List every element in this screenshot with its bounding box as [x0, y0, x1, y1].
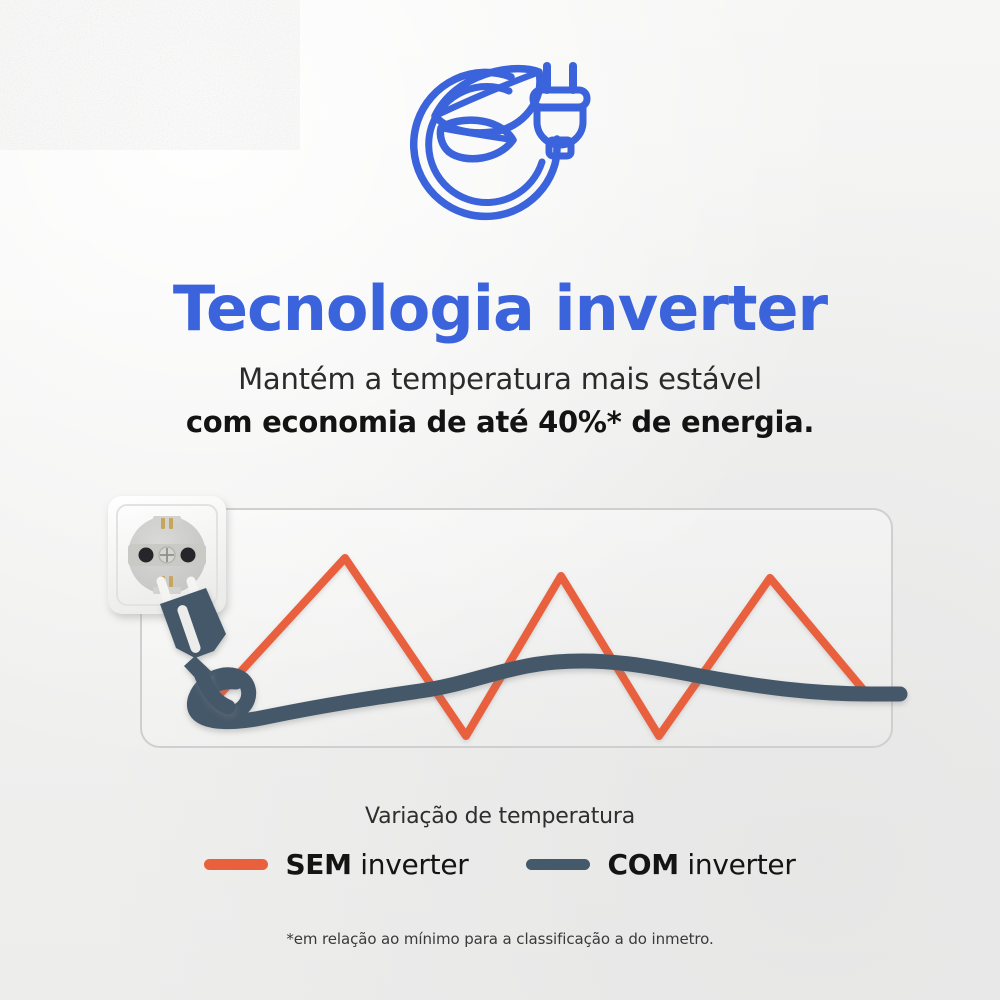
outlet-brass-slot-bottom-b	[169, 576, 173, 587]
legend-label-com-rest: inverter	[679, 848, 796, 881]
outlet-brass-slot-top-a	[161, 518, 165, 529]
legend-label-sem-rest: inverter	[352, 848, 469, 881]
legend-title: Variação de temperatura	[0, 804, 1000, 829]
chart-legend: SEM inverter COM inverter	[0, 848, 1000, 881]
legend-swatch-com-inverter	[526, 859, 590, 870]
legend-label-sem-inverter: SEM inverter	[285, 848, 468, 881]
plug-cable	[202, 676, 228, 707]
subtitle-line-1: Mantém a temperatura mais estável	[0, 340, 1000, 396]
wall-outlet-illustration	[98, 488, 338, 718]
legend-item-sem-inverter[interactable]: SEM inverter	[204, 848, 468, 881]
legend-item-com-inverter[interactable]: COM inverter	[526, 848, 795, 881]
outlet-pin-hole-left	[139, 548, 154, 563]
headline-block: Tecnologia inverter Mantém a temperatura…	[0, 278, 1000, 439]
subtitle-line-2: com economia de até 40%* de energia.	[0, 396, 1000, 439]
header-icon-container	[0, 44, 1000, 254]
outlet-ground-clip-top	[153, 516, 181, 523]
eco-plug-icon	[395, 44, 605, 254]
legend-label-com-strong: COM	[607, 848, 678, 881]
legend-swatch-sem-inverter	[204, 859, 268, 870]
outlet-brass-slot-top-b	[169, 518, 173, 529]
poster-background: Tecnologia inverter Mantém a temperatura…	[0, 0, 1000, 1000]
outlet-pin-hole-right	[181, 548, 196, 563]
footnote: *em relação ao mínimo para a classificaç…	[0, 930, 1000, 948]
legend-label-sem-strong: SEM	[285, 848, 351, 881]
legend-label-com-inverter: COM inverter	[607, 848, 795, 881]
page-title: Tecnologia inverter	[0, 278, 1000, 340]
